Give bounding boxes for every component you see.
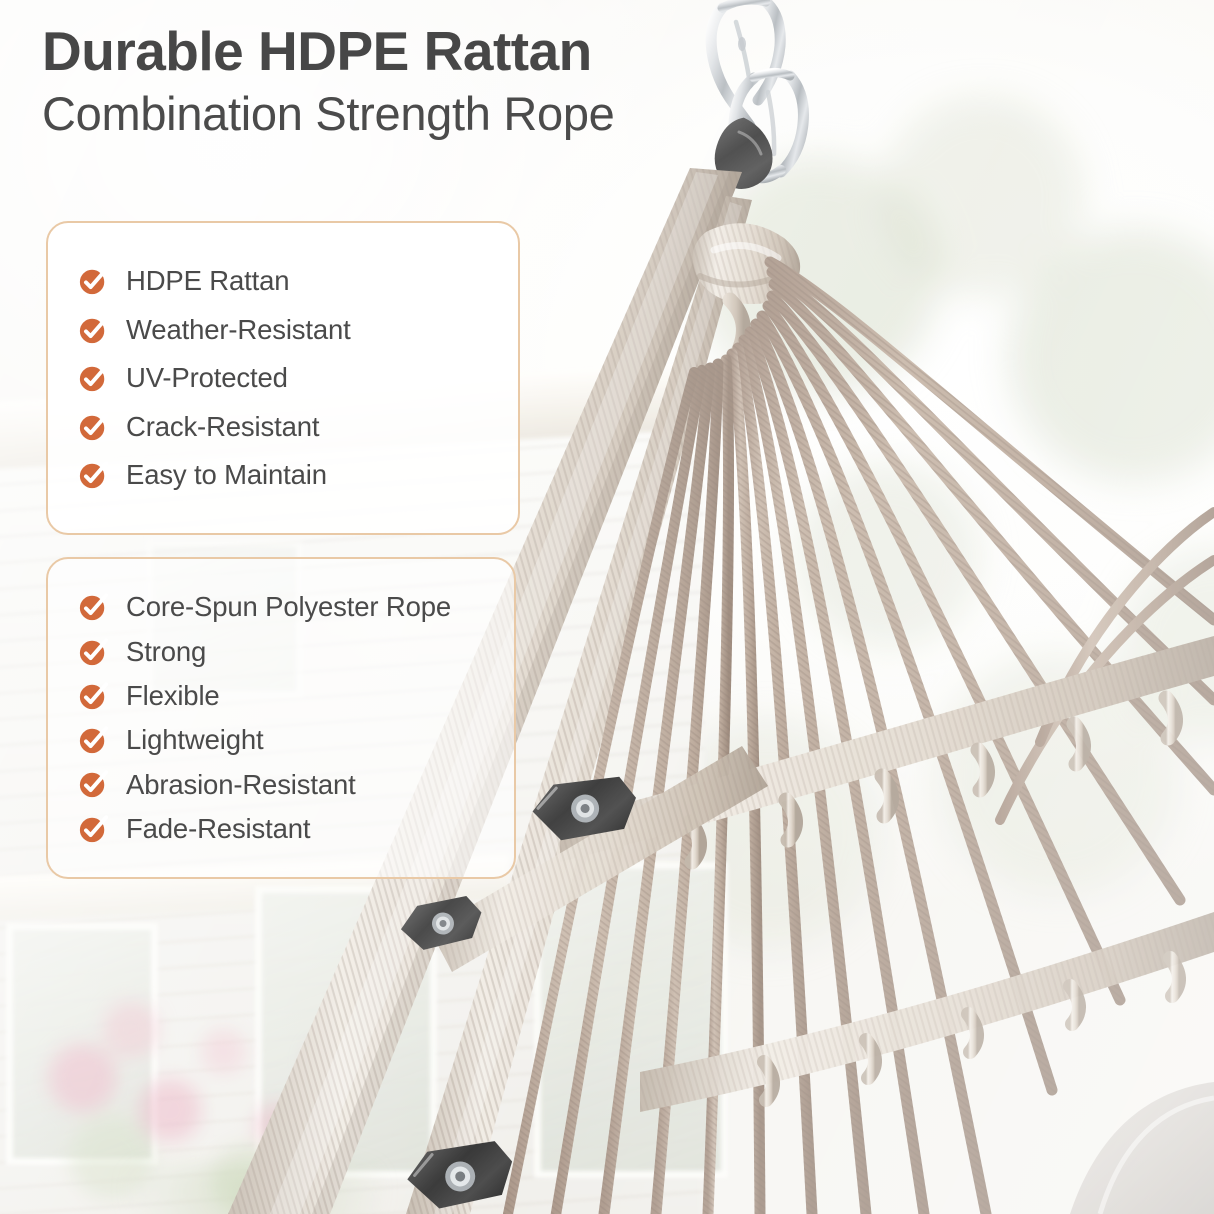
feature-label: Weather-Resistant [126,316,351,344]
title-line-2: Combination Strength Rope [42,86,722,142]
feature-box-polyester-rope: Core-Spun Polyester Rope Strong Flexible… [46,557,516,879]
check-circle-icon [78,769,108,799]
feature-label: Easy to Maintain [126,461,327,489]
feature-label: Lightweight [126,726,263,754]
feature-label: UV-Protected [126,364,288,392]
check-circle-icon [78,592,108,622]
feature-label: HDPE Rattan [126,267,289,295]
check-circle-icon [78,412,108,442]
list-item: Strong [78,629,484,673]
check-circle-icon [78,266,108,296]
feature-label: Crack-Resistant [126,413,319,441]
check-circle-icon [78,363,108,393]
list-item: Fade-Resistant [78,807,484,851]
title-line-1: Durable HDPE Rattan [42,22,722,81]
list-item: HDPE Rattan [78,257,488,306]
feature-label: Flexible [126,682,220,710]
feature-label: Core-Spun Polyester Rope [126,593,451,621]
list-item: Weather-Resistant [78,305,488,354]
feature-label: Strong [126,638,206,666]
list-item: UV-Protected [78,354,488,403]
check-circle-icon [78,637,108,667]
check-circle-icon [78,315,108,345]
feature-label: Fade-Resistant [126,815,310,843]
list-item: Easy to Maintain [78,451,488,500]
list-item: Crack-Resistant [78,402,488,451]
check-circle-icon [78,725,108,755]
list-item: Flexible [78,674,484,718]
list-item: Core-Spun Polyester Rope [78,585,484,629]
page-title: Durable HDPE Rattan Combination Strength… [42,22,722,143]
check-circle-icon [78,460,108,490]
check-circle-icon [78,814,108,844]
list-item: Abrasion-Resistant [78,762,484,806]
feature-box-hdpe-rattan: HDPE Rattan Weather-Resistant UV-Protect… [46,221,520,535]
list-item: Lightweight [78,718,484,762]
infographic-canvas: Durable HDPE Rattan Combination Strength… [0,0,1214,1214]
check-circle-icon [78,681,108,711]
feature-label: Abrasion-Resistant [126,771,356,799]
